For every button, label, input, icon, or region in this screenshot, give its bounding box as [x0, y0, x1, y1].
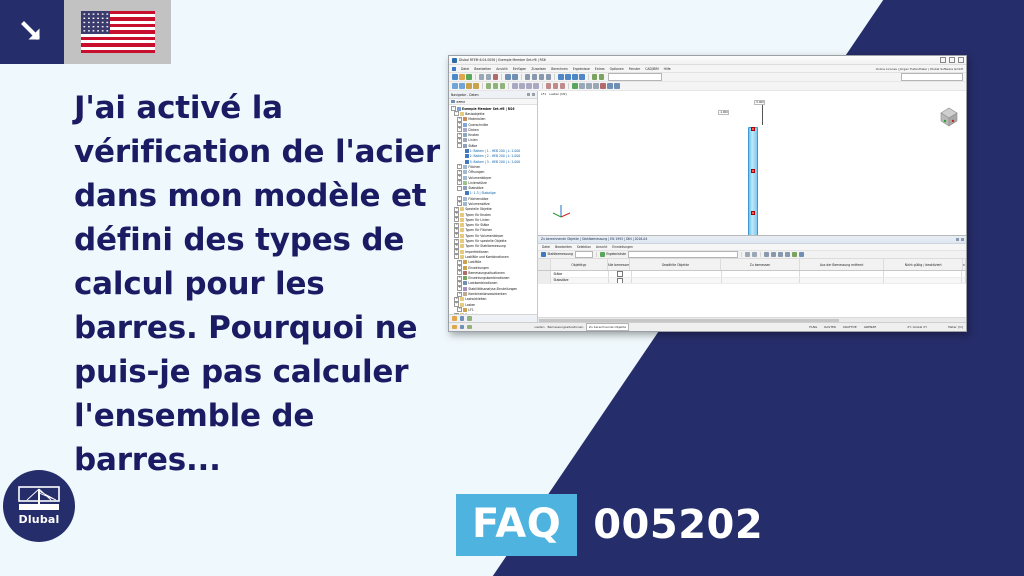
- cell-nicht-gueltig[interactable]: [884, 278, 962, 284]
- dock-menu-ansicht[interactable]: Ansicht: [596, 245, 607, 249]
- refresh-icon[interactable]: [752, 252, 757, 257]
- status-views-icon[interactable]: [467, 325, 472, 330]
- toolbar-row-2[interactable]: [449, 82, 966, 91]
- expand-icon[interactable]: +: [454, 217, 459, 222]
- settings-icon[interactable]: [607, 83, 613, 89]
- status-tab-left[interactable]: Lasten: [535, 325, 545, 329]
- expand-icon[interactable]: +: [457, 164, 462, 169]
- tree-node-label: Typen für Flächen: [465, 228, 492, 232]
- load-tool-icon[interactable]: [500, 83, 506, 89]
- memberset-item-icon: [465, 191, 469, 195]
- dock-result-combo[interactable]: [628, 251, 738, 259]
- expand-icon[interactable]: +: [457, 286, 462, 291]
- results-icon[interactable]: [599, 74, 605, 80]
- expand-icon[interactable]: +: [457, 175, 462, 180]
- toolbar-separator: [521, 74, 522, 80]
- coordinate-axes-icon: [550, 201, 572, 221]
- tree-node-label: 1: Balken | 1 - HEB 200 | L: 2.000: [470, 149, 521, 153]
- section-icon: [463, 123, 467, 127]
- tree-node-label: Stabilitätsanalyse-Einstellungen: [468, 287, 517, 291]
- dock-title: Zu berechnende Objekte | Stahlbemessung …: [541, 237, 647, 241]
- navigator-panel: Navigator - Daten RFEM -Exemple Member S…: [449, 91, 538, 322]
- view-sub-label: Lasten [kN]: [549, 92, 566, 96]
- material-icon: [463, 117, 467, 121]
- menu-bar[interactable]: Datei Bearbeiten Ansicht Einfügen Zuweis…: [449, 65, 966, 73]
- zoom-out-icon[interactable]: [565, 74, 571, 80]
- cell-entfernt[interactable]: [800, 278, 884, 284]
- table-row[interactable]: Stabsätze: [538, 278, 966, 285]
- pin-icon[interactable]: [956, 238, 959, 241]
- tree-node-label: Stäbe: [468, 144, 477, 148]
- dock-titlebar: Zu berechnende Objekte | Stahlbemessung …: [538, 236, 966, 244]
- window-titlebar: Dlubal RFEM 6.04.0056 | Exemple Member S…: [449, 56, 966, 65]
- dock-module-combo[interactable]: [575, 251, 593, 259]
- menu-item-ergebnisse[interactable]: Ergebnisse: [573, 67, 590, 71]
- tree-node-label: Typen für Stahlbemessung: [465, 244, 506, 248]
- menu-item-datei[interactable]: Datei: [461, 67, 469, 71]
- trim-icon[interactable]: [560, 83, 566, 89]
- loadcase-icon: [463, 260, 467, 264]
- status-tab-right[interactable]: Zu berechnende Objekte: [586, 323, 628, 331]
- window-title: Dlubal RFEM 6.04.0056 | Exemple Member S…: [459, 58, 546, 62]
- toolbar-separator: [760, 252, 761, 258]
- expand-icon[interactable]: +: [457, 122, 462, 127]
- folder-icon: [460, 223, 464, 227]
- close-icon[interactable]: [961, 238, 964, 241]
- status-unit: Meter [m]: [948, 325, 963, 329]
- help-icon[interactable]: [799, 252, 804, 257]
- zoom-window-icon[interactable]: [572, 74, 578, 80]
- cell-zu-bemessen[interactable]: [722, 278, 800, 284]
- tree-node-label: Typen für Stäbe: [465, 223, 489, 227]
- tree-node-label: Lastfälle: [468, 260, 481, 264]
- tree-node-label: Lasten: [465, 303, 475, 307]
- ortho-icon[interactable]: [539, 74, 545, 80]
- expand-icon[interactable]: +: [457, 127, 462, 132]
- cell-objekttyp: Stabsätze: [551, 278, 608, 284]
- line-tool-icon[interactable]: [459, 83, 465, 89]
- dock-result-selector[interactable]: Ergebnisliste: [600, 252, 626, 257]
- close-icon[interactable]: [532, 93, 535, 96]
- cell-entfernt[interactable]: [800, 271, 884, 277]
- design-objects-dock: Zu berechnende Objekte | Stahlbemessung …: [538, 235, 966, 322]
- cell-nicht-gueltig[interactable]: [884, 271, 962, 277]
- loadcase-icon: [463, 308, 467, 312]
- tree-node-label: Linien: [468, 138, 477, 142]
- load-arrow-line: [740, 113, 753, 122]
- copy-icon[interactable]: [512, 83, 518, 89]
- faq-number: 005202: [593, 502, 763, 548]
- tree-node-label: Imperfektionen: [465, 250, 488, 254]
- tree-node-label: Einwirkungen: [468, 266, 489, 270]
- check-icon[interactable]: [572, 83, 578, 89]
- tree-node-label: Basisobjekte: [465, 112, 484, 116]
- collapse-icon[interactable]: -: [454, 302, 459, 307]
- expand-icon[interactable]: +: [454, 228, 459, 233]
- expand-icon[interactable]: +: [457, 270, 462, 275]
- cell-kommentar[interactable]: [962, 278, 966, 284]
- cell-gewaehlte-objekte[interactable]: [632, 278, 722, 284]
- expand-icon[interactable]: +: [454, 297, 459, 302]
- menu-item-extras[interactable]: Extras: [595, 67, 605, 71]
- solid-icon: [463, 176, 467, 180]
- cell-alle-bemessen[interactable]: [609, 271, 632, 277]
- zoom-in-icon[interactable]: [558, 74, 564, 80]
- slide-root: J'ai activé la vérification de l'acier d…: [0, 0, 1024, 576]
- settings-icon[interactable]: [778, 252, 783, 257]
- dock-menu-einstellungen[interactable]: Einstellungen: [612, 245, 633, 249]
- toolbar-separator: [568, 83, 569, 89]
- folder-icon: [460, 239, 464, 243]
- wireframe-icon[interactable]: [586, 83, 592, 89]
- filter-icon[interactable]: [745, 252, 750, 257]
- dock-toolbar[interactable]: Stahlbemessung Ergebnisliste: [538, 251, 966, 260]
- expand-icon[interactable]: +: [457, 260, 462, 265]
- menu-item-ansicht[interactable]: Ansicht: [496, 67, 507, 71]
- status-item-raster[interactable]: RASTER: [824, 325, 836, 329]
- opening-icon: [463, 170, 467, 174]
- dock-controls[interactable]: [956, 238, 964, 241]
- rfem-application-window: Dlubal RFEM 6.04.0056 | Exemple Member S…: [448, 55, 967, 332]
- question-text: J'ai activé la vérification de l'acier d…: [74, 86, 444, 482]
- cell-zu-bemessen[interactable]: [722, 271, 800, 277]
- expand-icon[interactable]: +: [457, 117, 462, 122]
- folder-icon: [460, 112, 464, 116]
- pdf-icon[interactable]: [493, 74, 499, 80]
- expand-icon[interactable]: +: [454, 207, 459, 212]
- node-graphic[interactable]: [751, 211, 755, 215]
- toolbar-separator: [554, 74, 555, 80]
- grid-icon[interactable]: [525, 74, 531, 80]
- expand-icon[interactable]: +: [454, 249, 459, 254]
- app-icon: [452, 58, 457, 63]
- menu-item-cadbim[interactable]: CAD/BIM: [645, 67, 658, 71]
- tree-node-label: Materialien: [468, 117, 485, 121]
- line-icon: [463, 138, 467, 142]
- open-icon[interactable]: [459, 74, 465, 80]
- calculate-icon[interactable]: [792, 252, 797, 257]
- dock-result-label: Ergebnisliste: [606, 252, 626, 256]
- nav-display-icon[interactable]: [460, 316, 465, 321]
- license-label: Online License | Jürgen Tiefenthaler | D…: [876, 67, 963, 71]
- member-icon: [463, 144, 467, 148]
- faq-badge: FAQ: [456, 494, 577, 556]
- design-objects-table[interactable]: Objekttyp Alle bemessen Gewählte Objekte…: [538, 259, 966, 317]
- toolbar-separator: [542, 83, 543, 89]
- tree-node-label: Dicken: [468, 128, 478, 132]
- menu-item-fenster[interactable]: Fenster: [629, 67, 640, 71]
- navigator-tree[interactable]: -Exemple Member Set.rf6 | RS6-Basisobjek…: [449, 105, 537, 314]
- table-header-row: Objekttyp Alle bemessen Gewählte Objekte…: [538, 259, 966, 271]
- language-flag-plate: [64, 0, 171, 64]
- expand-icon[interactable]: +: [457, 307, 462, 312]
- collapse-icon[interactable]: -: [454, 254, 459, 259]
- undo-icon[interactable]: [505, 74, 511, 80]
- toolbar-separator: [501, 74, 502, 80]
- render-icon[interactable]: [579, 83, 585, 89]
- toolbar-separator: [508, 83, 509, 89]
- model-view[interactable]: LF1 Lasten [kN] -5.000 -1.000: [538, 91, 966, 322]
- result-list-icon: [600, 252, 605, 257]
- checkbox-icon[interactable]: [617, 271, 623, 277]
- node-icon: [463, 133, 467, 137]
- faq-badge-row: FAQ 005202: [456, 494, 763, 556]
- collapse-icon[interactable]: -: [457, 186, 462, 191]
- view-loadcase-label: LF1: [541, 92, 546, 96]
- menu-item-hilfe[interactable]: Hilfe: [664, 67, 671, 71]
- expand-icon[interactable]: +: [454, 212, 459, 217]
- expand-icon[interactable]: +: [454, 239, 459, 244]
- expand-icon[interactable]: +: [457, 196, 462, 201]
- tree-node-label: Volumensätze: [468, 202, 489, 206]
- status-display-icon[interactable]: [460, 325, 465, 330]
- tree-node-label: 1: 1-3 | Stabzüge: [470, 191, 496, 195]
- menu-item-einfuegen[interactable]: Einfügen: [513, 67, 527, 71]
- tree-node-label: Querschnitte: [468, 123, 488, 127]
- surfaceset-icon: [463, 197, 467, 201]
- dlubal-truss-icon: [18, 486, 60, 512]
- tree-node-label: Lastkombinationen: [468, 281, 497, 285]
- tree-node-label: Linienstütze: [468, 181, 487, 185]
- checkbox-icon[interactable]: [617, 278, 623, 284]
- column-header-alle-bemessen: Alle bemessen: [608, 259, 630, 270]
- menu-item-optionen[interactable]: Optionen: [610, 67, 624, 71]
- node-graphic[interactable]: [751, 127, 755, 131]
- cell-objekttyp: Stäbe: [551, 271, 608, 277]
- expand-icon[interactable]: +: [454, 244, 459, 249]
- tree-node-label: 3: Balken | 3 - HEB 200 | L: 2.000: [470, 160, 521, 164]
- measure-icon[interactable]: [614, 83, 620, 89]
- calculate-icon[interactable]: [592, 74, 598, 80]
- column-header-objekttyp: Objekttyp: [551, 259, 608, 270]
- tree-node-label: Typen für Knoten: [465, 213, 491, 217]
- status-item-grenze[interactable]: GRENZE: [864, 325, 877, 329]
- minimize-icon[interactable]: [940, 57, 946, 63]
- action-icon: [463, 266, 467, 270]
- print-icon[interactable]: [771, 252, 776, 257]
- dock-menu-datei[interactable]: Datei: [542, 245, 550, 249]
- status-item-fang[interactable]: FANG: [809, 325, 817, 329]
- expand-icon[interactable]: +: [457, 292, 462, 297]
- dock-module-label: Stahlbemessung: [548, 252, 573, 256]
- status-bar[interactable]: Lasten Bemessungssituationen Zu berechne…: [449, 322, 966, 331]
- status-tab-center[interactable]: Bemessungssituationen: [548, 325, 584, 329]
- collapse-icon[interactable]: -: [451, 106, 456, 111]
- expand-icon[interactable]: +: [457, 180, 462, 185]
- member-item-icon: [465, 149, 469, 153]
- node-graphic[interactable]: [751, 169, 755, 173]
- expand-icon[interactable]: +: [457, 133, 462, 138]
- member-graphic[interactable]: [748, 127, 758, 235]
- close-icon[interactable]: [958, 57, 964, 63]
- expand-icon[interactable]: +: [457, 138, 462, 143]
- toolbar-separator: [475, 74, 476, 80]
- toolbar-separator: [588, 74, 589, 80]
- menu-item-bearbeiten[interactable]: Bearbeiten: [474, 67, 491, 71]
- navigator-title: Navigator - Daten: [451, 93, 479, 97]
- tree-node-label: Exemple Member Set.rf6 | RS6: [462, 107, 514, 111]
- tree-node-label: 2: Balken | 2 - HEB 200 | L: 2.000: [470, 154, 521, 158]
- toolbar-separator: [482, 83, 483, 89]
- folder-icon: [460, 255, 464, 259]
- solidset-icon: [463, 202, 467, 206]
- cell-index: [538, 271, 551, 277]
- tree-node-label: Flächen: [468, 165, 480, 169]
- delete-icon[interactable]: [600, 83, 606, 89]
- mirror-icon[interactable]: [519, 83, 525, 89]
- navigation-cube-icon[interactable]: [937, 105, 961, 129]
- expand-icon[interactable]: +: [457, 276, 462, 281]
- nav-data-icon[interactable]: [452, 316, 457, 321]
- nav-views-icon[interactable]: [467, 316, 472, 321]
- scrollbar-thumb[interactable]: [539, 319, 839, 322]
- menu-item-berechnen[interactable]: Berechnen: [551, 67, 568, 71]
- columns-icon[interactable]: [785, 252, 790, 257]
- printpreview-icon[interactable]: [486, 74, 492, 80]
- navigator-footer[interactable]: [449, 314, 537, 322]
- column-header-aus-bemessung-entfernt: Aus der Bemessung entfernt: [800, 259, 885, 270]
- cell-alle-bemessen[interactable]: [609, 278, 632, 284]
- toolbar-separator: [596, 252, 597, 258]
- column-header-nicht-gueltig: Nicht gültig / deaktiviert: [884, 259, 963, 270]
- hinge-tool-icon[interactable]: [493, 83, 499, 89]
- print-icon[interactable]: [479, 74, 485, 80]
- loadcomb-icon: [463, 281, 467, 285]
- folder-icon: [460, 207, 464, 211]
- expand-icon[interactable]: [461, 160, 464, 163]
- maximize-icon[interactable]: [949, 57, 955, 63]
- folder-icon: [460, 297, 464, 301]
- surface-icon: [463, 165, 467, 169]
- save-icon[interactable]: [466, 74, 472, 80]
- dock-module-selector[interactable]: Stahlbemessung: [541, 252, 573, 257]
- toolbar-separator: [741, 252, 742, 258]
- expand-icon[interactable]: +: [457, 201, 462, 206]
- load-label-2: -1.000: [718, 110, 729, 115]
- window-controls[interactable]: [940, 57, 964, 63]
- app-body: Navigator - Daten RFEM -Exemple Member S…: [449, 91, 966, 322]
- model-icon: [457, 107, 461, 111]
- tab-data-icon[interactable]: [451, 100, 455, 104]
- column-header-gewaehlte-objekte: Gewählte Objekte: [630, 259, 721, 270]
- divide-icon[interactable]: [546, 83, 552, 89]
- expand-icon[interactable]: [461, 150, 464, 153]
- memberset-icon: [463, 186, 467, 190]
- folder-icon: [460, 250, 464, 254]
- support-tool-icon[interactable]: [486, 83, 492, 89]
- zoom-all-icon[interactable]: [579, 74, 585, 80]
- cell-gewaehlte-objekte[interactable]: [632, 271, 722, 277]
- collapse-icon[interactable]: -: [454, 111, 459, 116]
- tree-node-label: Lastwirkleiten: [465, 297, 486, 301]
- status-item-kraftde[interactable]: KRAFTDE: [843, 325, 857, 329]
- tree-node-label: Typen für spezielle Objekte: [465, 239, 506, 243]
- expand-icon[interactable]: +: [454, 223, 459, 228]
- loadcase-combo[interactable]: [608, 73, 662, 81]
- arrow-block: [0, 0, 64, 64]
- dlubal-wordmark: Dlubal: [19, 513, 60, 526]
- tree-node-label: Volumenkörper: [468, 176, 491, 180]
- connect-icon[interactable]: [553, 83, 559, 89]
- tree-node-label: Stabsätze: [468, 186, 483, 190]
- thickness-icon: [463, 128, 467, 132]
- folder-icon: [460, 228, 464, 232]
- expand-icon[interactable]: +: [457, 170, 462, 175]
- tree-node-label: Öffnungen: [468, 170, 484, 174]
- load-label-1: -5.000: [754, 100, 765, 105]
- us-flag-icon: [81, 11, 155, 53]
- tree-node-label: LF1: [468, 308, 473, 312]
- view-combo[interactable]: [901, 73, 963, 81]
- expand-icon[interactable]: +: [457, 281, 462, 286]
- cell-index: [538, 278, 551, 284]
- expand-icon[interactable]: +: [454, 233, 459, 238]
- move-icon[interactable]: [533, 83, 539, 89]
- tree-node-label: Einwirkungskombinationen: [468, 276, 509, 280]
- tree-node-label: Typen für Volumenkörper: [465, 234, 503, 238]
- tree-node-label: Knoten: [468, 133, 479, 137]
- menu-app-icon: [452, 67, 456, 71]
- rotate-icon[interactable]: [526, 83, 532, 89]
- dlubal-logo: Dlubal: [3, 470, 75, 542]
- dock-menu-selektion[interactable]: Selektion: [577, 245, 591, 249]
- expand-icon[interactable]: +: [457, 265, 462, 270]
- section-view-icon[interactable]: [593, 83, 599, 89]
- toolbar-row-1[interactable]: [449, 73, 966, 82]
- tree-node-label: Bemessungssituationen: [468, 271, 504, 275]
- tree-node-label: Typen für Linien: [465, 218, 489, 222]
- folder-icon: [460, 244, 464, 248]
- new-icon[interactable]: [452, 74, 458, 80]
- pin-icon[interactable]: [527, 93, 530, 96]
- status-data-icon[interactable]: [452, 325, 457, 330]
- actioncomb-icon: [463, 276, 467, 280]
- tree-node-label: Spezielle Objekte: [465, 207, 492, 211]
- member-tool-icon[interactable]: [466, 83, 472, 89]
- surface-tool-icon[interactable]: [473, 83, 479, 89]
- folder-icon: [460, 303, 464, 307]
- object-snap-icon[interactable]: [546, 74, 552, 80]
- stability-icon: [463, 287, 467, 291]
- snap-icon[interactable]: [532, 74, 538, 80]
- status-coord: XY: Global XY: [907, 325, 927, 329]
- navigator-header: Navigator - Daten: [449, 91, 537, 99]
- navigator-pin-controls[interactable]: [527, 93, 535, 96]
- collapse-icon[interactable]: -: [457, 143, 462, 148]
- node-tool-icon[interactable]: [452, 83, 458, 89]
- designsit-icon: [463, 271, 467, 275]
- dock-menu-bearbeiten[interactable]: Bearbeiten: [555, 245, 572, 249]
- dock-menu-bar[interactable]: Datei Bearbeiten Selektion Ansicht Einst…: [538, 244, 966, 251]
- wizard-icon: [463, 292, 467, 296]
- column-header-zu-bemessen: Zu bemessen: [721, 259, 800, 270]
- export-icon[interactable]: [764, 252, 769, 257]
- status-right-group: FANG RASTER KRAFTDE GRENZE XY: Global XY…: [809, 325, 963, 329]
- member-item-icon: [465, 160, 469, 164]
- menu-item-zuweisen[interactable]: Zuweisen: [531, 67, 546, 71]
- folder-icon: [460, 218, 464, 222]
- model-canvas[interactable]: -5.000 -1.000: [538, 97, 966, 235]
- table-horizontal-scrollbar[interactable]: [538, 317, 966, 322]
- cell-kommentar[interactable]: [962, 271, 966, 277]
- arrow-down-right-icon: [19, 19, 45, 45]
- expand-icon[interactable]: [461, 192, 464, 195]
- tree-node-label: Flächensätze: [468, 197, 488, 201]
- linesupport-icon: [463, 181, 467, 185]
- redo-icon[interactable]: [512, 74, 518, 80]
- expand-icon[interactable]: [461, 155, 464, 158]
- load-arrow-line: [762, 105, 763, 125]
